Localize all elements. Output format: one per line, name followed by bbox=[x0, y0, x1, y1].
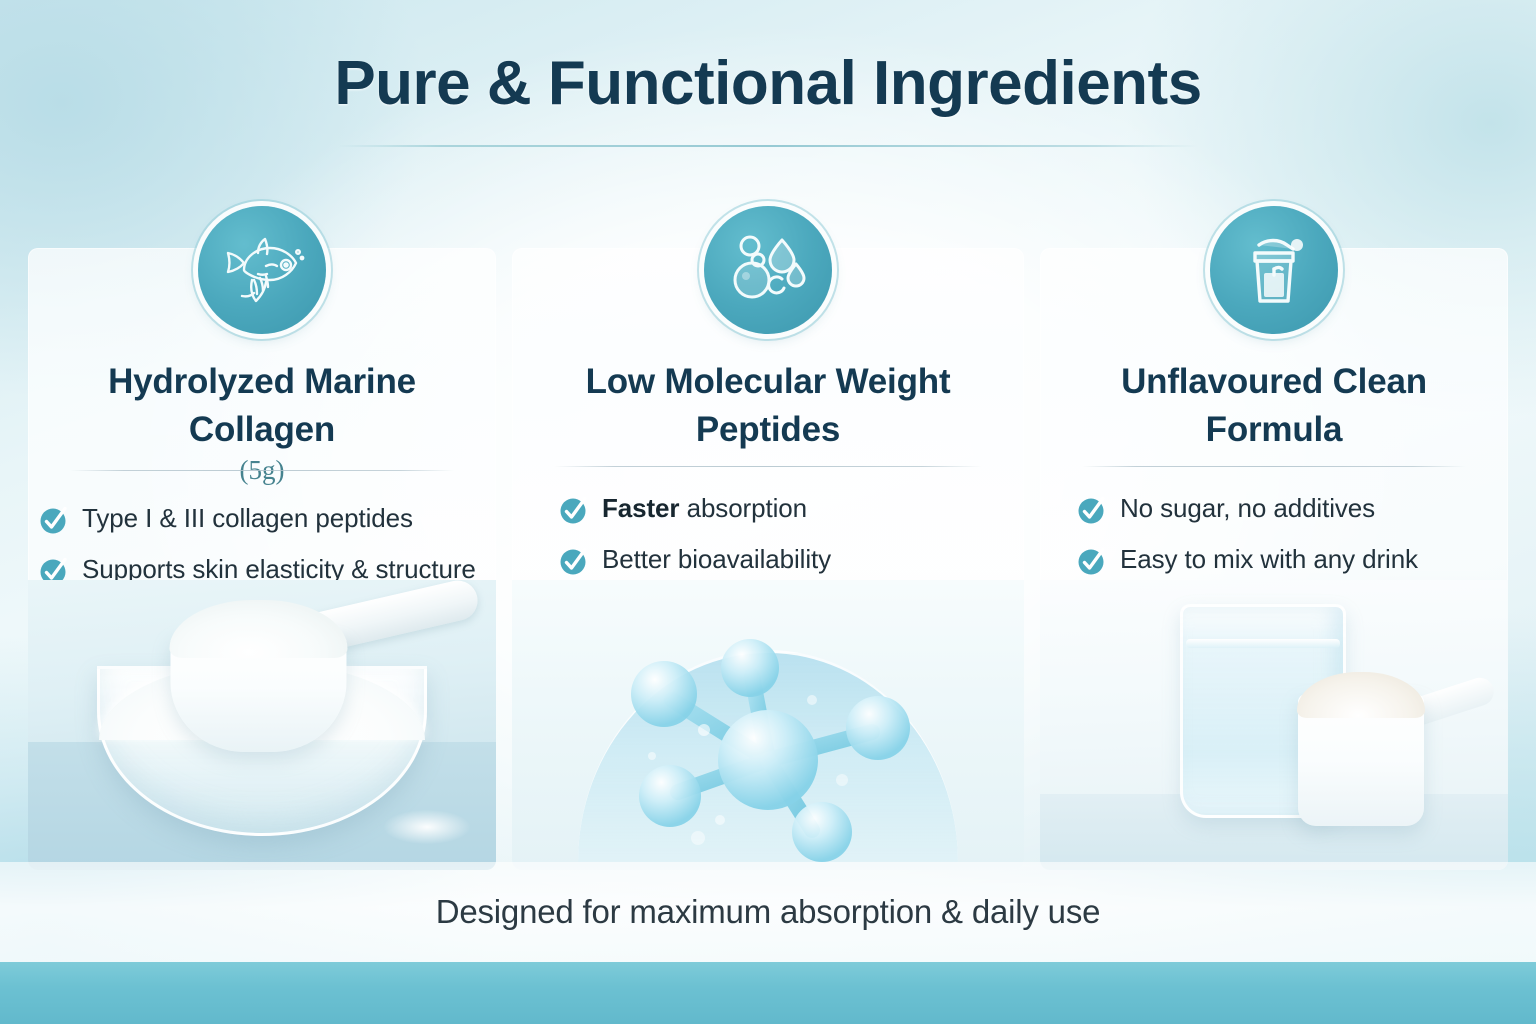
card-heading-group: Hydrolyzed Marine Collagen (5g) bbox=[28, 358, 496, 486]
shaker-bottle-icon bbox=[1210, 206, 1338, 334]
list-item-label: Better bioavailability bbox=[602, 541, 831, 578]
list-item: Easy to mix with any drink bbox=[1076, 541, 1494, 578]
feature-card-peptides: Low Molecular Weight Peptides Faster abs… bbox=[512, 248, 1024, 870]
header: Pure & Functional Ingredients bbox=[0, 48, 1536, 147]
card-heading-group: Low Molecular Weight Peptides bbox=[512, 358, 1024, 453]
benefit-list: Faster absorption Better bioavailability bbox=[558, 490, 1010, 592]
water-glass-scoop-photo bbox=[1040, 580, 1508, 870]
feature-card-unflavoured: Unflavoured Clean Formula No sugar, no a… bbox=[1040, 248, 1508, 870]
list-item: No sugar, no additives bbox=[1076, 490, 1494, 527]
list-item-rest: absorption bbox=[687, 493, 807, 523]
card-divider bbox=[1082, 466, 1466, 467]
bottom-accent-bar bbox=[0, 962, 1536, 1024]
checkmark-icon bbox=[38, 504, 68, 534]
footer-tagline: Designed for maximum absorption & daily … bbox=[436, 893, 1101, 931]
list-item-label: Easy to mix with any drink bbox=[1120, 541, 1418, 578]
list-item-label: Type I & III collagen peptides bbox=[82, 500, 413, 537]
card-heading-group: Unflavoured Clean Formula bbox=[1040, 358, 1508, 453]
collagen-powder-bowl-photo bbox=[28, 580, 496, 870]
card-divider bbox=[554, 466, 982, 467]
page-title: Pure & Functional Ingredients bbox=[0, 48, 1536, 119]
checkmark-icon bbox=[558, 494, 588, 524]
title-divider bbox=[338, 145, 1198, 147]
checkmark-icon bbox=[1076, 494, 1106, 524]
list-item-label: No sugar, no additives bbox=[1120, 490, 1375, 527]
molecule-illustration-photo bbox=[512, 580, 1024, 870]
water-droplets-icon bbox=[704, 206, 832, 334]
card-title: Low Molecular Weight Peptides bbox=[534, 358, 1002, 453]
checkmark-icon bbox=[558, 545, 588, 575]
fish-icon bbox=[198, 206, 326, 334]
card-title: Hydrolyzed Marine Collagen bbox=[50, 358, 474, 453]
card-title: Unflavoured Clean Formula bbox=[1062, 358, 1486, 453]
list-item: Type I & III collagen peptides bbox=[38, 500, 482, 537]
list-item: Better bioavailability bbox=[558, 541, 1010, 578]
feature-card-collagen: Hydrolyzed Marine Collagen (5g) Type I &… bbox=[28, 248, 496, 870]
list-item-label: Faster absorption bbox=[602, 490, 807, 527]
feature-columns: Hydrolyzed Marine Collagen (5g) Type I &… bbox=[0, 248, 1536, 870]
infographic-canvas: Pure & Functional Ingredients bbox=[0, 0, 1536, 1024]
benefit-list: No sugar, no additives Easy to mix with … bbox=[1076, 490, 1494, 592]
list-item: Faster absorption bbox=[558, 490, 1010, 527]
card-divider bbox=[70, 470, 454, 471]
checkmark-icon bbox=[1076, 545, 1106, 575]
list-item-emphasis: Faster bbox=[602, 493, 679, 523]
footer: Designed for maximum absorption & daily … bbox=[0, 862, 1536, 962]
